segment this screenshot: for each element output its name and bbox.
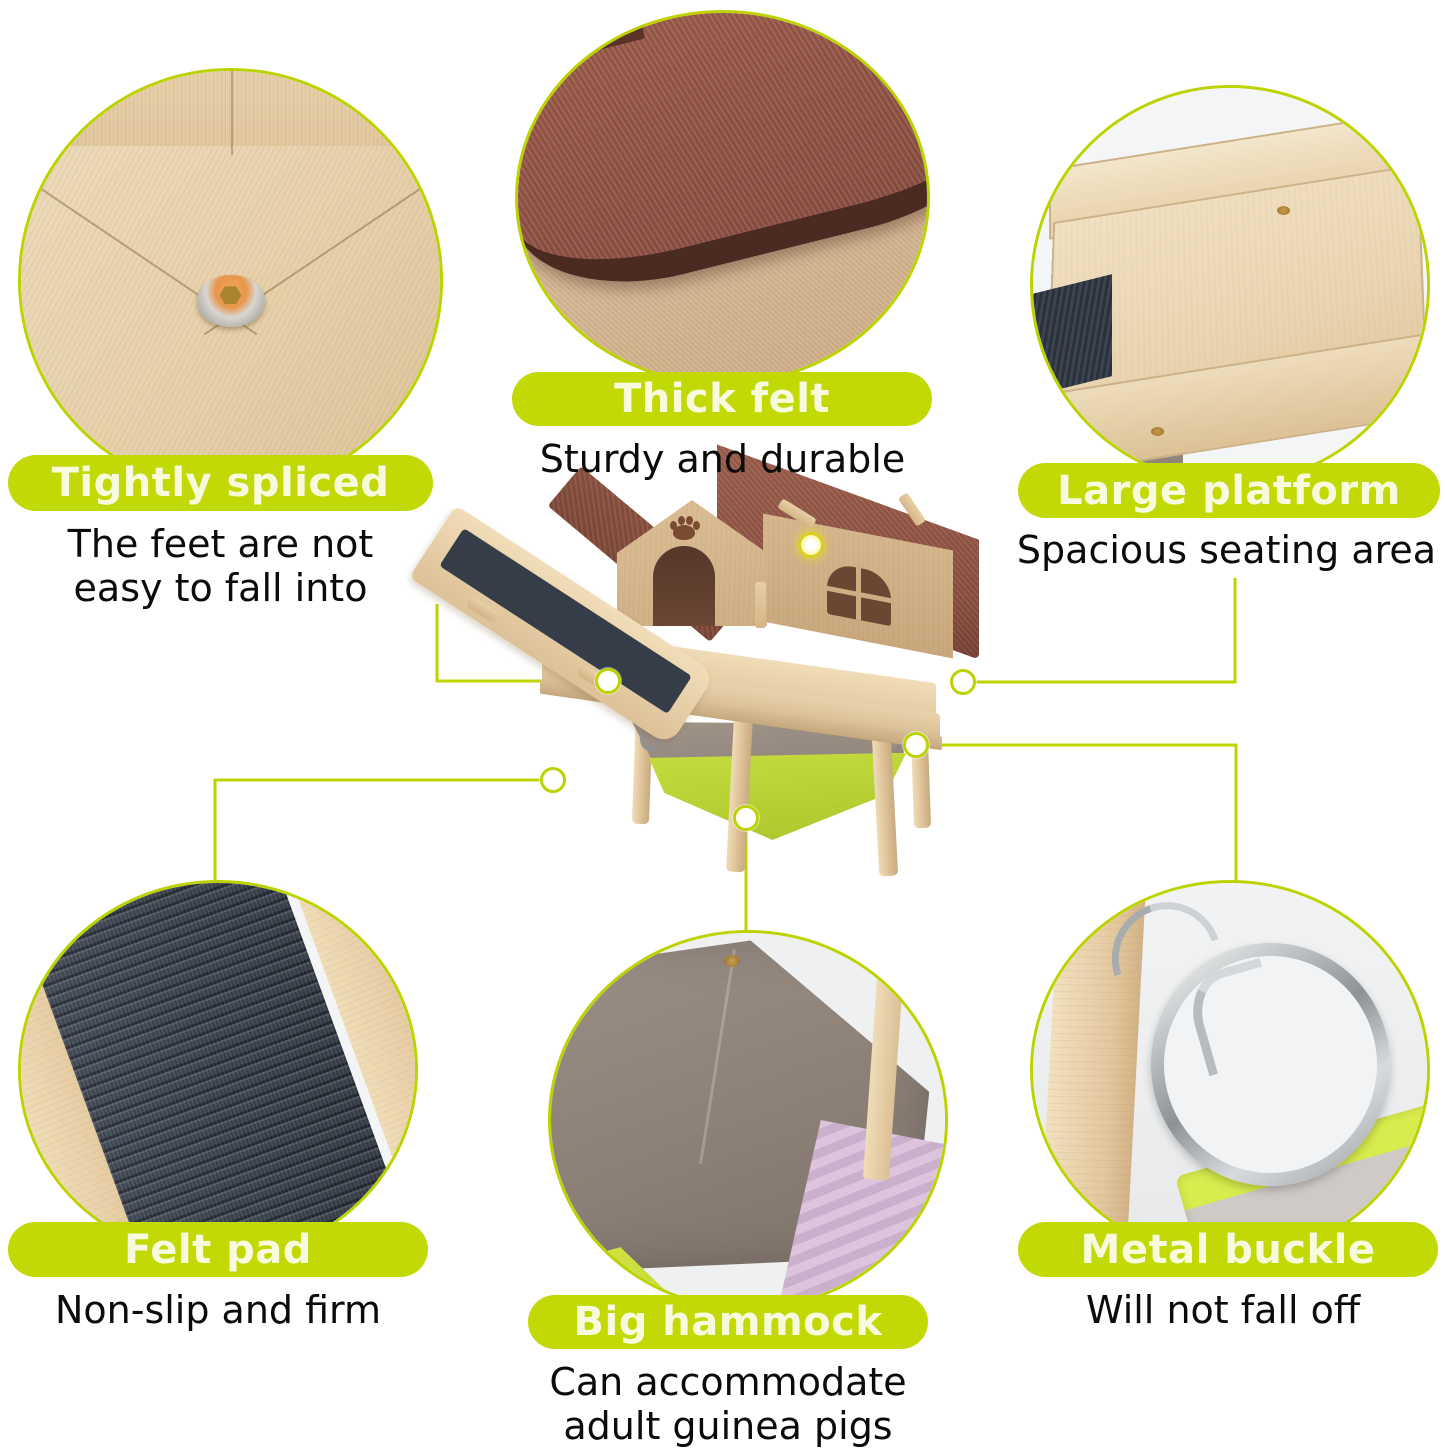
infographic-canvas: Tightly spliced The feet are not easy to…	[0, 0, 1445, 1456]
dot-tightly-spliced[interactable]	[595, 668, 621, 694]
label-pill-tightly-spliced: Tightly spliced	[8, 455, 433, 511]
label-subtitle-thick-felt: Sturdy and durable	[500, 437, 945, 481]
platform-tray-image	[1033, 88, 1427, 482]
detail-circle-large-platform	[1030, 85, 1430, 485]
dot-thick-felt[interactable]	[798, 532, 824, 558]
label-pill-large-platform: Large platform	[1018, 463, 1440, 518]
label-subtitle-felt-pad: Non-slip and firm	[8, 1288, 428, 1332]
dot-big-hammock[interactable]	[733, 805, 759, 831]
dot-metal-buckle[interactable]	[903, 732, 929, 758]
detail-circle-felt-pad	[18, 880, 418, 1260]
label-pill-metal-buckle: Metal buckle	[1018, 1222, 1438, 1277]
wall-peg	[755, 582, 766, 628]
ramp-carpet-image	[21, 883, 415, 1257]
screw-head-icon	[197, 275, 265, 327]
label-pill-big-hammock: Big hammock	[528, 1295, 928, 1349]
dot-large-platform[interactable]	[950, 669, 976, 695]
carabiner-buckle-image	[1033, 883, 1427, 1257]
house-arched-doorway	[653, 546, 715, 626]
label-subtitle-big-hammock: Can accommodate adult guinea pigs	[518, 1360, 938, 1448]
wood-corner-joint-image	[21, 71, 440, 490]
product-illustration	[400, 470, 1020, 990]
dot-felt-pad[interactable]	[540, 767, 566, 793]
label-subtitle-large-platform: Spacious seating area	[1008, 528, 1445, 572]
label-pill-thick-felt: Thick felt	[512, 372, 932, 426]
label-pill-felt-pad: Felt pad	[8, 1222, 428, 1277]
felt-roof-edge-image	[518, 13, 927, 382]
paw-print-icon	[669, 516, 699, 540]
detail-circle-metal-buckle	[1030, 880, 1430, 1260]
detail-circle-thick-felt	[515, 10, 930, 385]
detail-circle-tightly-spliced	[18, 68, 443, 493]
label-subtitle-tightly-spliced: The feet are not easy to fall into	[8, 522, 433, 610]
label-subtitle-metal-buckle: Will not fall off	[1008, 1288, 1438, 1332]
